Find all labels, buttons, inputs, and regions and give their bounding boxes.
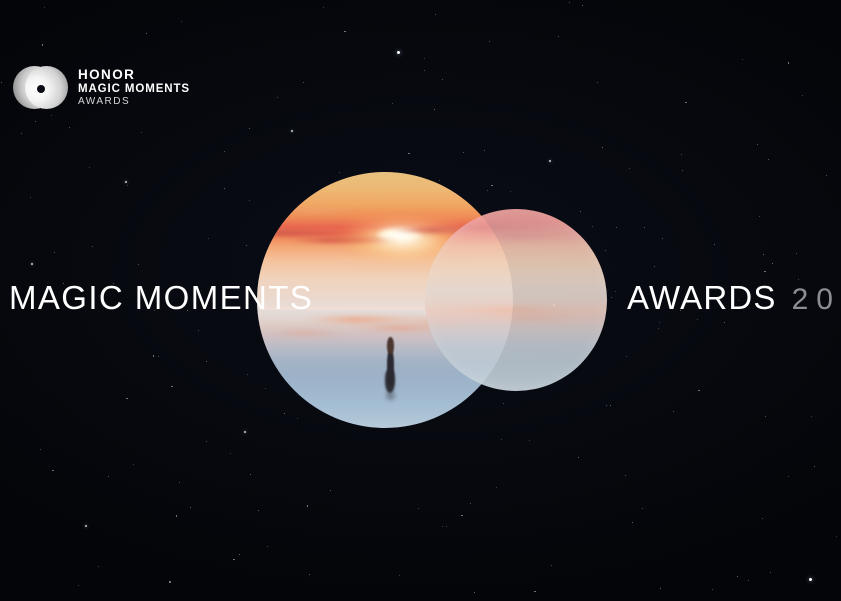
logo-wordmark: HONOR MAGIC MOMENTS AWARDS [78,67,190,108]
figure-body [387,349,394,385]
honor-magic-moments-awards-logo: HONOR MAGIC MOMENTS AWARDS [13,66,190,109]
woman-silhouette-figure [384,337,397,393]
logo-center-dot [37,85,45,93]
logo-circle-right [25,66,68,109]
headline-year: 2021 [792,283,841,317]
logo-awards-label: AWARDS [78,96,190,108]
headline-magic-moments: MAGIC MOMENTS [9,279,313,317]
key-visual-poster: HONOR MAGIC MOMENTS AWARDS MAGIC MOMENTS… [0,0,841,601]
figure-hair [387,337,394,354]
logo-program-name: MAGIC MOMENTS [78,83,190,97]
honor-venn-circles-mark-icon [13,66,68,109]
right-circle-soft-overlay [425,209,607,391]
soft-cloud-1 [432,224,559,231]
logo-brand-name: HONOR [78,67,190,83]
soft-cloud-2 [465,233,585,239]
headline-awards-group: AWARDS 2021 [627,279,841,317]
cloud-streak-lower [288,237,401,243]
figure-water-reflection [386,391,395,400]
headline-awards: AWARDS [627,279,777,317]
cloud-streak-upper [270,208,362,213]
water-reflection-4 [262,331,349,335]
